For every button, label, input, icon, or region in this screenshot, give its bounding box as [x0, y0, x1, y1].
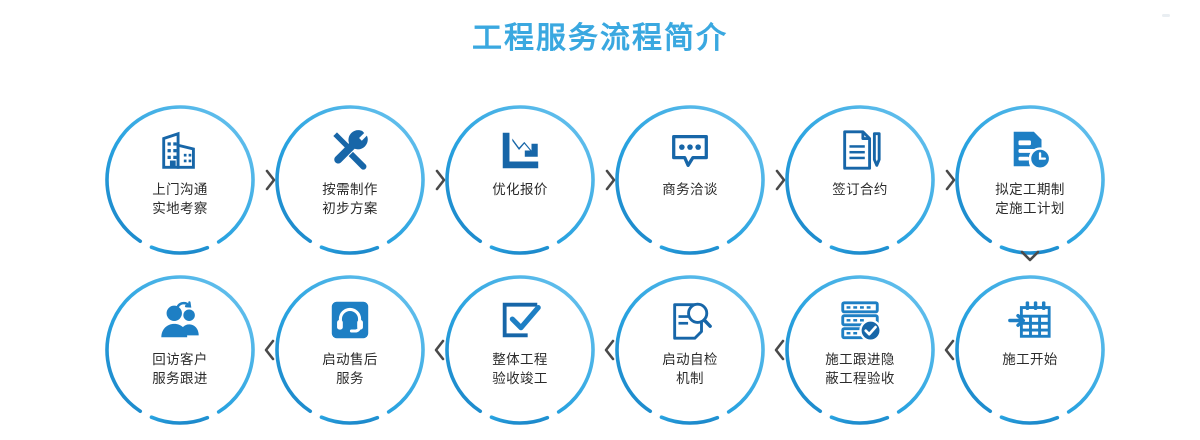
- process-step-10[interactable]: 整体工程 验收竣工: [440, 270, 600, 430]
- process-step-9[interactable]: 启动自检 机制: [610, 270, 770, 430]
- step-label: 施工跟进隐 蔽工程验收: [825, 350, 895, 388]
- step-label: 签订合约: [832, 180, 888, 199]
- process-step-11[interactable]: 启动售后 服务: [270, 270, 430, 430]
- headset-icon: [327, 297, 373, 343]
- chart-down-icon: [497, 127, 543, 173]
- step-label: 上门沟通 实地考察: [152, 180, 208, 218]
- step-label: 整体工程 验收竣工: [492, 350, 548, 388]
- flow-row-bottom: 回访客户 服务跟进启动售后 服务整体工程 验收竣工启动自检 机制施工跟进隐 蔽工…: [0, 270, 1200, 430]
- two-people-icon: [157, 297, 203, 343]
- checkbox-check-icon: [497, 297, 543, 343]
- step-label: 商务洽谈: [662, 180, 718, 199]
- process-step-7[interactable]: 施工开始: [950, 270, 1110, 430]
- decorative-speck: [1162, 14, 1170, 17]
- chevron-down-icon: [1019, 248, 1041, 264]
- process-step-6[interactable]: 拟定工期制 定施工计划: [950, 100, 1110, 260]
- document-pen-icon: [837, 127, 883, 173]
- process-step-1[interactable]: 上门沟通 实地考察: [100, 100, 260, 260]
- page-title: 工程服务流程简介: [0, 22, 1200, 55]
- calendar-start-icon: [1007, 297, 1053, 343]
- process-step-2[interactable]: 按需制作 初步方案: [270, 100, 430, 260]
- process-step-4[interactable]: 商务洽谈: [610, 100, 770, 260]
- process-step-3[interactable]: 优化报价: [440, 100, 600, 260]
- step-label: 启动售后 服务: [322, 350, 378, 388]
- step-label: 施工开始: [1002, 350, 1058, 369]
- step-label: 按需制作 初步方案: [322, 180, 378, 218]
- flow-row-top: 上门沟通 实地考察按需制作 初步方案优化报价商务洽谈签订合约拟定工期制 定施工计…: [0, 100, 1200, 260]
- step-label: 回访客户 服务跟进: [152, 350, 208, 388]
- speech-bubble-icon: [667, 127, 713, 173]
- tools-icon: [327, 127, 373, 173]
- server-check-icon: [837, 297, 883, 343]
- building-icon: [157, 127, 203, 173]
- process-step-5[interactable]: 签订合约: [780, 100, 940, 260]
- step-label: 拟定工期制 定施工计划: [995, 180, 1065, 218]
- document-clock-icon: [1007, 127, 1053, 173]
- process-step-8[interactable]: 施工跟进隐 蔽工程验收: [780, 270, 940, 430]
- document-search-icon: [667, 297, 713, 343]
- process-flow-infographic: 工程服务流程简介 上门沟通 实地考察按需制作 初步方案优化报价商务洽谈签订合约拟…: [0, 0, 1200, 440]
- step-label: 启动自检 机制: [662, 350, 718, 388]
- process-step-12[interactable]: 回访客户 服务跟进: [100, 270, 260, 430]
- step-label: 优化报价: [492, 180, 548, 199]
